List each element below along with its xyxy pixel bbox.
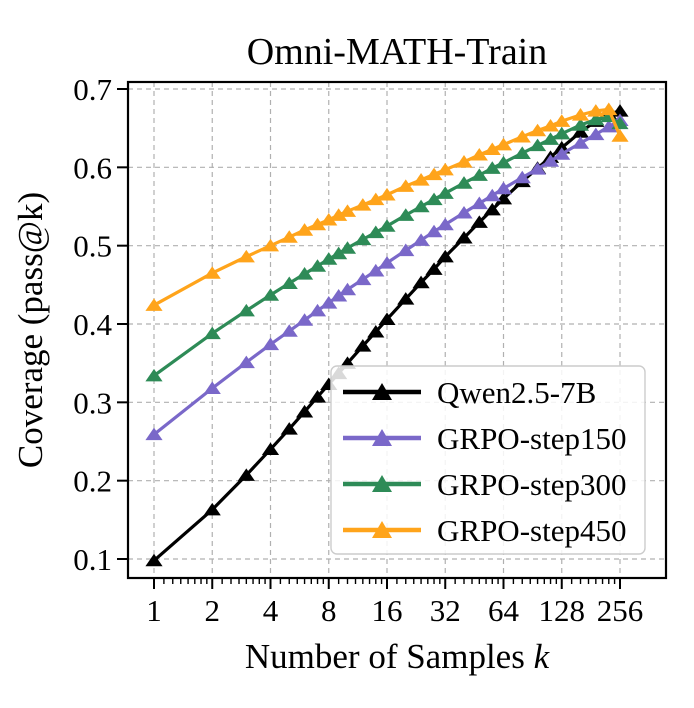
legend-label-4[interactable]: GRPO-step450 bbox=[437, 513, 626, 548]
chart-title: Omni-MATH-Train bbox=[247, 31, 548, 73]
data-point-marker bbox=[281, 230, 298, 243]
legend-label-3[interactable]: GRPO-step300 bbox=[437, 467, 626, 502]
y-axis-ticks: 0.10.20.30.40.50.60.7 bbox=[73, 72, 128, 577]
x-axis-title-main: Number of Samples bbox=[245, 637, 534, 676]
x-tick-label: 64 bbox=[488, 593, 520, 628]
x-tick-label: 1 bbox=[146, 593, 162, 628]
data-point-marker bbox=[495, 138, 512, 151]
y-tick-label: 0.5 bbox=[73, 229, 112, 264]
x-tick-label: 16 bbox=[372, 593, 403, 628]
x-tick-label: 8 bbox=[321, 593, 337, 628]
y-tick-label: 0.7 bbox=[73, 72, 112, 107]
data-point-marker bbox=[397, 179, 414, 192]
legend-label-1[interactable]: Qwen2.5-7B bbox=[437, 375, 596, 410]
chart-canvas: 1248163264128256 0.10.20.30.40.50.60.7 Q… bbox=[0, 0, 694, 708]
data-point-marker bbox=[514, 130, 531, 143]
series-grpo-step450 bbox=[145, 103, 628, 311]
data-point-marker bbox=[238, 250, 255, 263]
chart-figure: 1248163264128256 0.10.20.30.40.50.60.7 Q… bbox=[0, 0, 694, 708]
data-point-marker bbox=[378, 188, 395, 201]
x-tick-label: 2 bbox=[205, 593, 221, 628]
x-axis-title-k: k bbox=[534, 637, 551, 676]
x-tick-label: 256 bbox=[597, 593, 644, 628]
y-axis-title: Coverage (pass@k) bbox=[11, 192, 50, 468]
legend-label-2[interactable]: GRPO-step150 bbox=[437, 421, 626, 456]
x-axis-ticks: 1248163264128256 bbox=[146, 578, 643, 628]
data-point-marker bbox=[455, 155, 472, 168]
x-axis-title: Number of Samples k bbox=[245, 637, 551, 676]
legend[interactable]: Qwen2.5-7BGRPO-step150GRPO-step300GRPO-s… bbox=[331, 366, 645, 554]
data-point-marker bbox=[204, 266, 221, 279]
x-tick-label: 4 bbox=[263, 593, 279, 628]
x-tick-label: 128 bbox=[539, 593, 586, 628]
y-tick-label: 0.6 bbox=[73, 150, 112, 185]
y-tick-label: 0.3 bbox=[73, 385, 112, 420]
y-tick-label: 0.2 bbox=[73, 464, 112, 499]
data-point-marker bbox=[339, 204, 356, 217]
y-tick-label: 0.1 bbox=[73, 542, 112, 577]
y-tick-label: 0.4 bbox=[73, 307, 112, 342]
data-point-marker bbox=[514, 146, 531, 159]
data-point-marker bbox=[437, 163, 454, 176]
data-point-marker bbox=[495, 156, 512, 169]
data-point-marker bbox=[455, 176, 472, 189]
x-tick-label: 32 bbox=[430, 593, 461, 628]
